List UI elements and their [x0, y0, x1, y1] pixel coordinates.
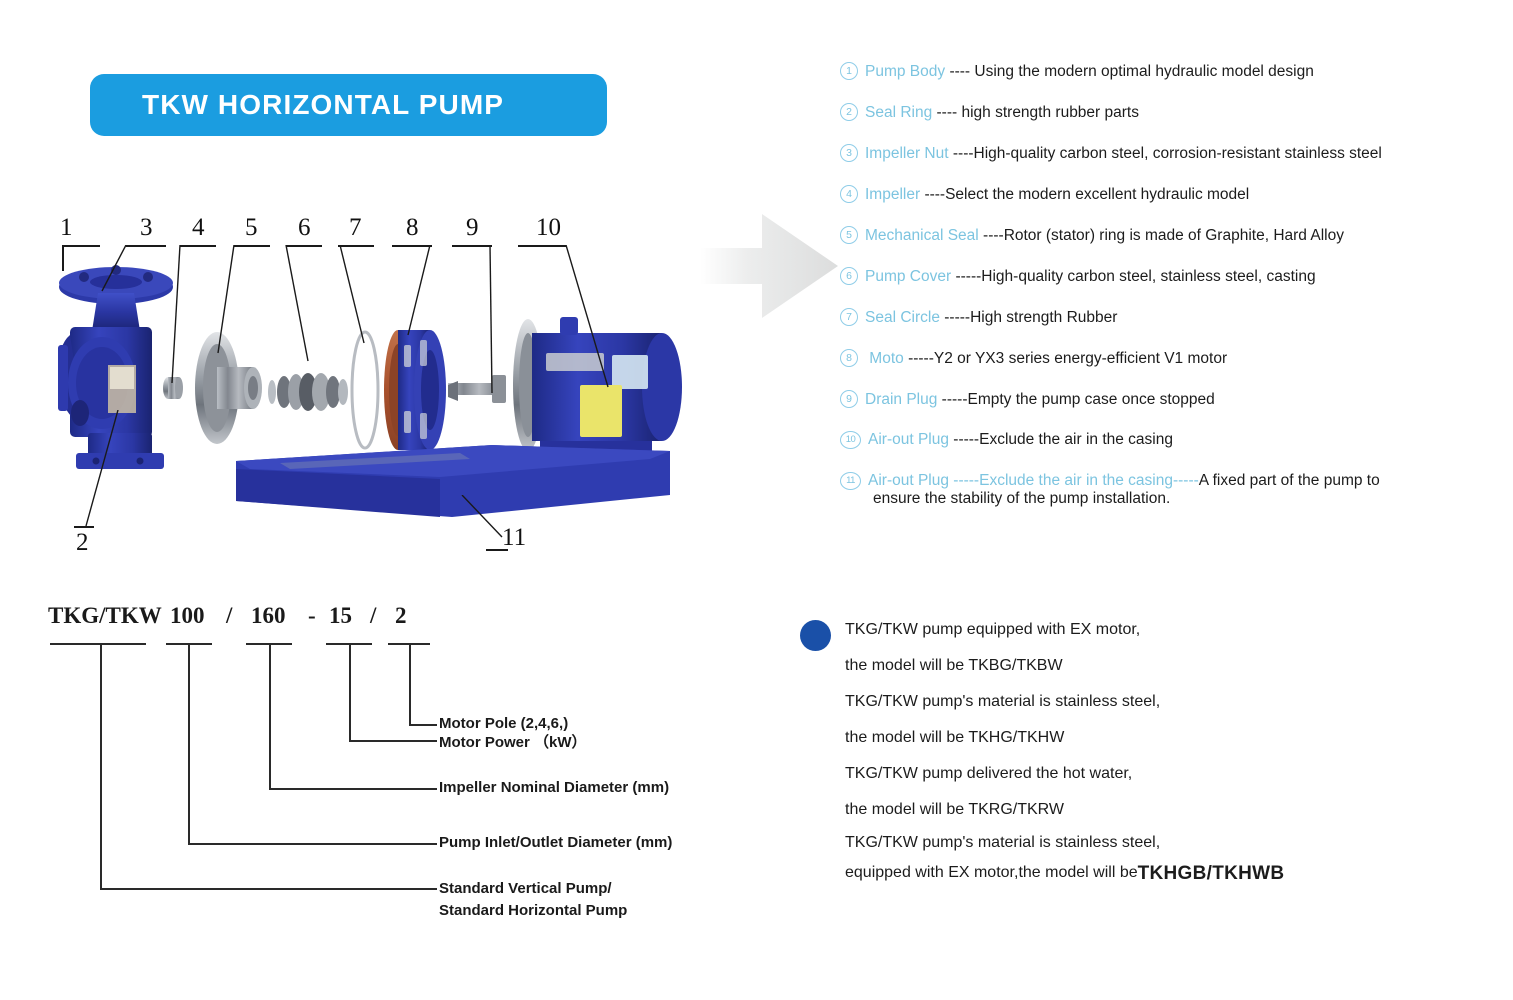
model-label-motor-pole: Motor Pole (2,4,6,): [439, 715, 568, 732]
model-label-inlet-diameter: Pump Inlet/Outlet Diameter (mm): [439, 834, 672, 851]
legend-description: Using the modern optimal hydraulic model…: [974, 63, 1313, 80]
legend-sep: -----: [940, 309, 970, 326]
legend-sep: ----: [945, 63, 974, 80]
model-label-impeller-diameter: Impeller Nominal Diameter (mm): [439, 779, 669, 796]
legend-sep: -----: [937, 391, 967, 408]
note-line-6: the model will be TKRG/TKRW: [845, 792, 1420, 828]
callout-line-6b: [284, 245, 324, 363]
legend-part-name: Pump Body: [865, 63, 945, 80]
legend-part-name: Pump Cover: [865, 268, 951, 285]
model-token-inlet: 100: [170, 603, 205, 629]
callout-7: 7: [349, 215, 362, 240]
legend-item-6: 6Pump Cover -----High-quality carbon ste…: [840, 267, 1500, 308]
legend-description: Rotor (stator) ring is made of Graphite,…: [1004, 227, 1344, 244]
legend-item-10: 10Air-out Plug -----Exclude the air in t…: [840, 431, 1500, 472]
note-line-5: TKG/TKW pump delivered the hot water,: [845, 756, 1420, 792]
model-token-dash: -: [308, 603, 316, 629]
callout-line-1b: [62, 245, 64, 271]
callout-line-7b: [338, 245, 378, 345]
note-line-4: the model will be TKHG/TKHW: [845, 720, 1420, 756]
legend-description: A fixed part of the pump to: [1199, 472, 1380, 489]
title-banner: TKW HORIZONTAL PUMP: [90, 74, 607, 136]
model-leader-pole-v: [409, 643, 411, 725]
callout-line-11: [460, 495, 520, 545]
callout-2: 2: [76, 530, 89, 555]
model-label-standard-vertical: Standard Vertical Pump/: [439, 880, 612, 897]
model-variants-notes: TKG/TKW pump equipped with EX motor, the…: [800, 612, 1420, 888]
legend-number-icon: 6: [840, 267, 858, 285]
legend-description: Select the modern excellent hydraulic mo…: [945, 186, 1249, 203]
model-leader-pole-h: [409, 724, 437, 726]
callout-line-2: [74, 410, 124, 530]
model-leader-inlet-v: [188, 643, 190, 844]
note-line-2: the model will be TKBG/TKBW: [845, 648, 1420, 684]
legend-sep: ----: [920, 186, 945, 203]
model-token-impeller: 160: [251, 603, 286, 629]
model-leader-inlet-h: [188, 843, 437, 845]
callout-line-8b: [390, 245, 434, 337]
legend-item-2: 2Seal Ring ---- high strength rubber par…: [840, 103, 1500, 144]
legend-number-icon: 5: [840, 226, 858, 244]
model-leader-prefix-h: [100, 888, 437, 890]
legend-description-blue: Exclude the air in the casing-----: [979, 472, 1199, 489]
legend-description: High-quality carbon steel, stainless ste…: [981, 268, 1315, 285]
legend-number-icon: 3: [840, 144, 858, 162]
note-final-code: TKHGB/TKHWB: [1138, 864, 1285, 883]
model-token-slash1: /: [226, 603, 232, 629]
callout-8: 8: [406, 215, 419, 240]
model-designation-diagram: TKG/TKW 100 / 160 - 15 / 2 Motor Pole (2…: [40, 595, 740, 965]
note-line-1: TKG/TKW pump equipped with EX motor,: [845, 612, 1420, 648]
legend-sep: ----: [949, 145, 974, 162]
legend-number-icon: 1: [840, 62, 858, 80]
legend-item-11: 11Air-out Plug -----Exclude the air in t…: [840, 472, 1500, 508]
legend-description: High strength Rubber: [970, 309, 1117, 326]
legend-item-8: 8 Moto -----Y2 or YX3 series energy-effi…: [840, 349, 1500, 390]
callout-6: 6: [298, 215, 311, 240]
callout-line-4b: [162, 245, 202, 385]
callout-line-11b: [486, 549, 508, 551]
note-line-8-text: equipped with EX motor,the model will be: [845, 865, 1138, 881]
model-label-motor-power: Motor Power （kW）: [439, 731, 587, 752]
legend-sep: ----: [979, 227, 1004, 244]
legend-item-1: 1Pump Body ---- Using the modern optimal…: [840, 62, 1500, 103]
legend-description: high strength rubber parts: [961, 104, 1139, 121]
model-label-standard-horizontal: Standard Horizontal Pump: [439, 902, 627, 919]
legend-part-name: Moto: [865, 350, 904, 367]
model-leader-prefix-v: [100, 643, 102, 889]
callout-1: 1: [60, 215, 73, 240]
legend-number-icon: 8: [840, 349, 858, 367]
legend-number-icon: 10: [840, 431, 861, 449]
callout-9: 9: [466, 215, 479, 240]
exploded-pump-diagram: 1 3 4 5 6 7 8 9: [40, 205, 700, 560]
legend-description: Empty the pump case once stopped: [968, 391, 1215, 408]
callout-10: 10: [536, 215, 561, 240]
model-token-power: 15: [329, 603, 352, 629]
bullet-dot-icon: [800, 620, 831, 651]
callout-3: 3: [140, 215, 153, 240]
model-token-prefix: TKG/TKW: [48, 603, 162, 629]
legend-sep: ----: [932, 104, 961, 121]
legend-number-icon: 11: [840, 472, 861, 490]
legend-part-name: Seal Ring: [865, 104, 932, 121]
note-line-8: equipped with EX motor,the model will be…: [845, 858, 1420, 888]
legend-sep: -----: [949, 472, 979, 489]
legend-description: Exclude the air in the casing: [979, 431, 1173, 448]
legend-sep: -----: [904, 350, 934, 367]
legend-description: High-quality carbon steel, corrosion-res…: [974, 145, 1382, 162]
legend-sep: -----: [949, 431, 979, 448]
legend-part-name: Air-out Plug: [868, 431, 949, 448]
legend-description: Y2 or YX3 series energy-efficient V1 mot…: [934, 350, 1227, 367]
legend-number-icon: 9: [840, 390, 858, 408]
model-token-slash2: /: [370, 603, 376, 629]
legend-item-4: 4Impeller ----Select the modern excellen…: [840, 185, 1500, 226]
legend-number-icon: 2: [840, 103, 858, 121]
model-leader-power-v: [349, 643, 351, 741]
page-root: TKW HORIZONTAL PUMP: [0, 0, 1513, 1000]
parts-legend: 1Pump Body ---- Using the modern optimal…: [840, 62, 1500, 508]
callout-4: 4: [192, 215, 205, 240]
legend-item-9: 9Drain Plug -----Empty the pump case onc…: [840, 390, 1500, 431]
legend-part-name: Air-out Plug: [868, 472, 949, 489]
model-leader-power-h: [349, 740, 437, 742]
legend-item-7: 7Seal Circle -----High strength Rubber: [840, 308, 1500, 349]
callout-5: 5: [245, 215, 258, 240]
legend-sep: -----: [951, 268, 981, 285]
legend-item-3: 3Impeller Nut ----High-quality carbon st…: [840, 144, 1500, 185]
model-leader-impeller-v: [269, 643, 271, 789]
note-line-3: TKG/TKW pump's material is stainless ste…: [845, 684, 1420, 720]
callout-line-9b: [436, 245, 496, 395]
legend-part-name: Impeller: [865, 186, 920, 203]
note-line-7: TKG/TKW pump's material is stainless ste…: [845, 828, 1420, 858]
callout-line-2b: [74, 526, 94, 528]
callout-line-3b: [100, 245, 160, 293]
legend-description-line2: ensure the stability of the pump install…: [873, 490, 1500, 508]
model-underline-prefix: [50, 643, 146, 645]
legend-part-name: Drain Plug: [865, 391, 937, 408]
legend-part-name: Seal Circle: [865, 309, 940, 326]
page-title: TKW HORIZONTAL PUMP: [142, 89, 504, 121]
model-token-pole: 2: [395, 603, 407, 629]
legend-number-icon: 7: [840, 308, 858, 326]
right-arrow-icon: [700, 212, 840, 320]
legend-part-name: Mechanical Seal: [865, 227, 979, 244]
legend-number-icon: 4: [840, 185, 858, 203]
legend-part-name: Impeller Nut: [865, 145, 949, 162]
model-leader-impeller-h: [269, 788, 437, 790]
legend-item-5: 5Mechanical Seal ----Rotor (stator) ring…: [840, 226, 1500, 267]
callout-line-10b: [540, 245, 624, 395]
callout-line-1: [62, 245, 100, 247]
callout-line-5b: [208, 245, 264, 355]
